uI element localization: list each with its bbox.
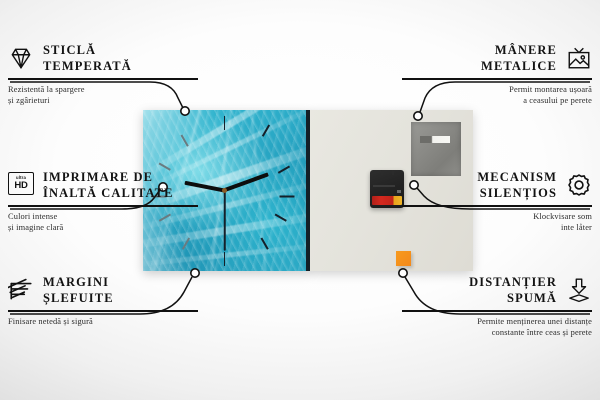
- callout-title: MÂNERE METALICE: [481, 42, 557, 74]
- callout-subtitle: Klockvisare som inte låter: [402, 211, 592, 234]
- callout-silent-mechanism[interactable]: MECANISM SILENȚIOS Klockvisare som inte …: [402, 169, 592, 234]
- callout-tempered-glass[interactable]: STICLĂ TEMPERATĂ Rezistentă la spargere …: [8, 42, 198, 107]
- callout-header: MÂNERE METALICE: [402, 42, 592, 74]
- metal-hanger-plate: [411, 122, 461, 176]
- callout-metal-handles[interactable]: MÂNERE METALICE Permit montarea ușoară a…: [402, 42, 592, 107]
- diamond-icon: [8, 45, 34, 71]
- callout-rule: [8, 205, 198, 207]
- callout-subtitle: Permit montarea ușoară a ceasului pe per…: [402, 84, 592, 107]
- battery: [372, 196, 402, 205]
- clock-hour-hand: [224, 173, 269, 193]
- callout-foam-spacer[interactable]: DISTANȚIER SPUMĂ Permite menținerea unei…: [402, 274, 592, 339]
- foam-spacer-square: [396, 251, 411, 266]
- callout-rule: [402, 310, 592, 312]
- clock-mechanism: [370, 170, 404, 208]
- callout-title: MARGINI ȘLEFUITE: [43, 274, 114, 306]
- callout-rule: [8, 78, 198, 80]
- diagonal-lines-icon: [8, 277, 34, 303]
- infographic-stage: STICLĂ TEMPERATĂ Rezistentă la spargere …: [0, 0, 600, 400]
- callout-rule: [402, 78, 592, 80]
- callout-title: DISTANȚIER SPUMĂ: [469, 274, 557, 306]
- ultra-hd-icon: ultra HD: [8, 172, 34, 198]
- clock-center-cap: [222, 188, 227, 193]
- callout-print-quality[interactable]: ultra HD IMPRIMARE DE ÎNALTĂ CALITATE Cu…: [8, 169, 198, 234]
- mechanism-detail-line: [373, 185, 395, 187]
- arrow-down-layer-icon: [566, 277, 592, 303]
- callout-title: STICLĂ TEMPERATĂ: [43, 42, 132, 74]
- callout-title: MECANISM SILENȚIOS: [477, 169, 557, 201]
- callout-polished-edges[interactable]: MARGINI ȘLEFUITE Finisare netedă și sigu…: [8, 274, 198, 327]
- callout-rule: [402, 205, 592, 207]
- callout-subtitle: Rezistentă la spargere și zgârieturi: [8, 84, 198, 107]
- callout-header: ultra HD IMPRIMARE DE ÎNALTĂ CALITATE: [8, 169, 198, 201]
- callout-subtitle: Culori intense și imagine clară: [8, 211, 198, 234]
- ultra-hd-main-label: HD: [14, 181, 27, 191]
- callout-subtitle: Permite menținerea unei distanțe constan…: [402, 316, 592, 339]
- hanger-slot: [420, 136, 450, 143]
- mechanism-detail-dot: [397, 190, 401, 193]
- gear-icon: [566, 172, 592, 198]
- mechanism-hook: [381, 170, 394, 175]
- callout-header: MECANISM SILENȚIOS: [402, 169, 592, 201]
- picture-frame-hanger-icon: [566, 45, 592, 71]
- callout-header: STICLĂ TEMPERATĂ: [8, 42, 198, 74]
- callout-header: DISTANȚIER SPUMĂ: [402, 274, 592, 306]
- callout-header: MARGINI ȘLEFUITE: [8, 274, 198, 306]
- callout-subtitle: Finisare netedă și sigură: [8, 316, 198, 328]
- clock-second-hand: [224, 191, 226, 251]
- callout-title: IMPRIMARE DE ÎNALTĂ CALITATE: [43, 169, 174, 201]
- callout-rule: [8, 310, 198, 312]
